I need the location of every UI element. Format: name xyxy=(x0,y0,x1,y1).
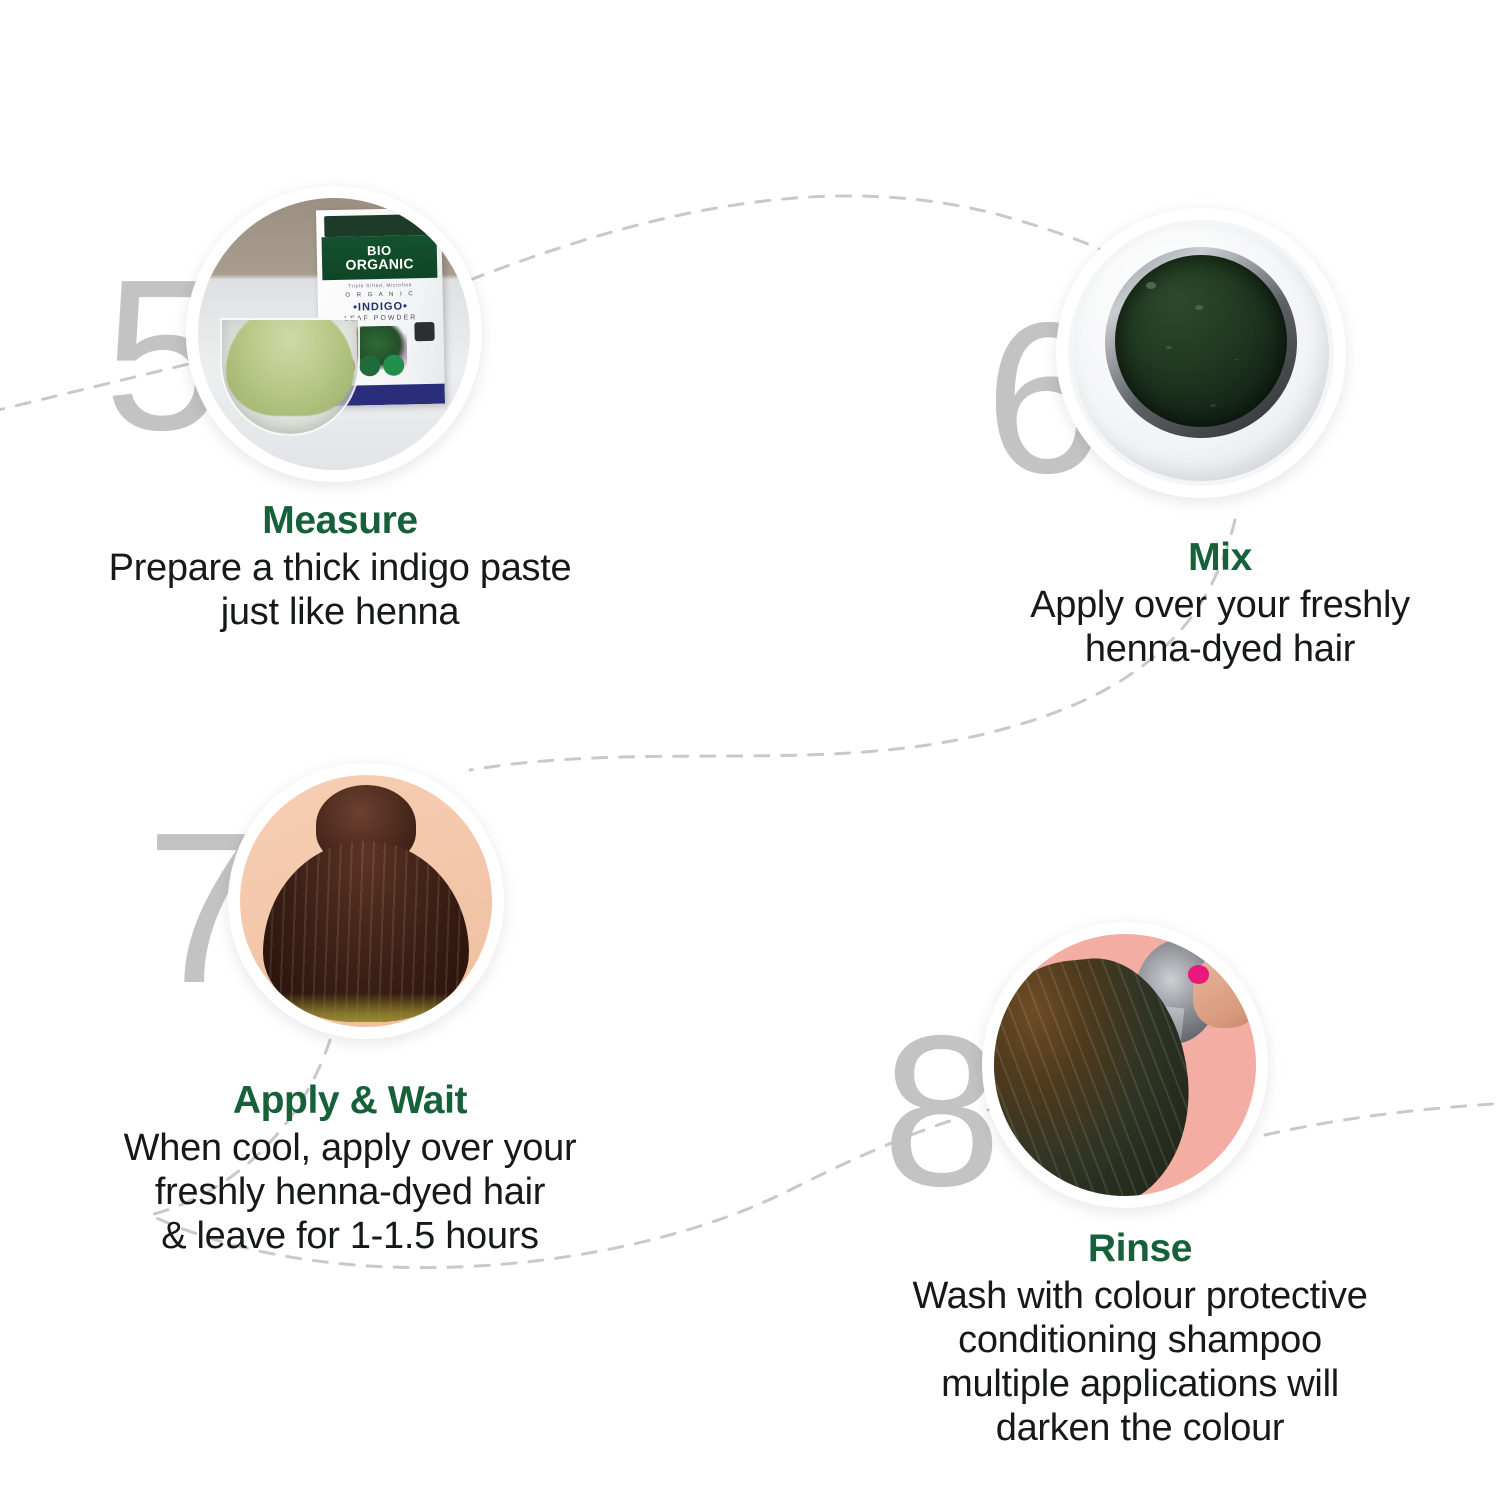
step-5-title: Measure xyxy=(40,500,640,542)
connector-step5-to-step6 xyxy=(470,196,1135,280)
product-subtitle: Triple Sifted, Microfine xyxy=(317,282,442,291)
step-8-title: Rinse xyxy=(855,1228,1425,1270)
pink-nail xyxy=(1188,965,1209,983)
step-6-caption: Mix Apply over your freshly henna-dyed h… xyxy=(940,537,1500,671)
product-brand-panel: BIO ORGANIC xyxy=(321,235,437,280)
step-7-caption: Apply & Wait When cool, apply over your … xyxy=(40,1080,660,1258)
green-indigo-powder xyxy=(226,318,354,416)
step-8-caption: Rinse Wash with colour protective condit… xyxy=(855,1228,1425,1450)
infographic-canvas: 5 BIO ORGANIC Triple Sifted, Microfine O… xyxy=(0,0,1500,1500)
step-6-photo-circle xyxy=(1056,208,1346,498)
indigo-powder-bowl-and-box-photo: BIO ORGANIC Triple Sifted, Microfine O R… xyxy=(198,198,470,470)
step-8-body: Wash with colour protective conditioning… xyxy=(855,1274,1425,1450)
step-6-title: Mix xyxy=(940,537,1500,579)
connector-out-of-step-8 xyxy=(1265,1103,1500,1135)
step-number-8: 8 xyxy=(882,1003,1000,1218)
product-box-cap xyxy=(323,214,434,238)
wet-dyed-hair xyxy=(994,950,1200,1196)
paste-covered-hair xyxy=(263,841,470,1022)
step-6-body: Apply over your freshly henna-dyed hair xyxy=(940,583,1500,671)
step-5-photo-circle: BIO ORGANIC Triple Sifted, Microfine O R… xyxy=(186,186,482,482)
step-7-photo-circle xyxy=(228,763,504,1039)
step-8-photo-circle xyxy=(982,922,1268,1208)
product-organic-label: O R G A N I C xyxy=(317,291,442,300)
step-5-body: Prepare a thick indigo paste just like h… xyxy=(40,546,640,634)
step-7-title: Apply & Wait xyxy=(40,1080,660,1122)
hair-bun-with-paste-photo xyxy=(240,775,492,1027)
dark-indigo-paste xyxy=(1115,255,1288,428)
rinsing-hair-shower-photo xyxy=(994,934,1256,1196)
mixed-indigo-paste-bowl-photo xyxy=(1068,220,1334,486)
brand-organic-text: ORGANIC xyxy=(345,257,413,272)
product-seal-icon xyxy=(414,321,434,341)
step-5-caption: Measure Prepare a thick indigo paste jus… xyxy=(40,500,640,634)
step-7-body: When cool, apply over your freshly henna… xyxy=(40,1126,660,1258)
product-name-indigo: •INDIGO• xyxy=(318,300,443,315)
